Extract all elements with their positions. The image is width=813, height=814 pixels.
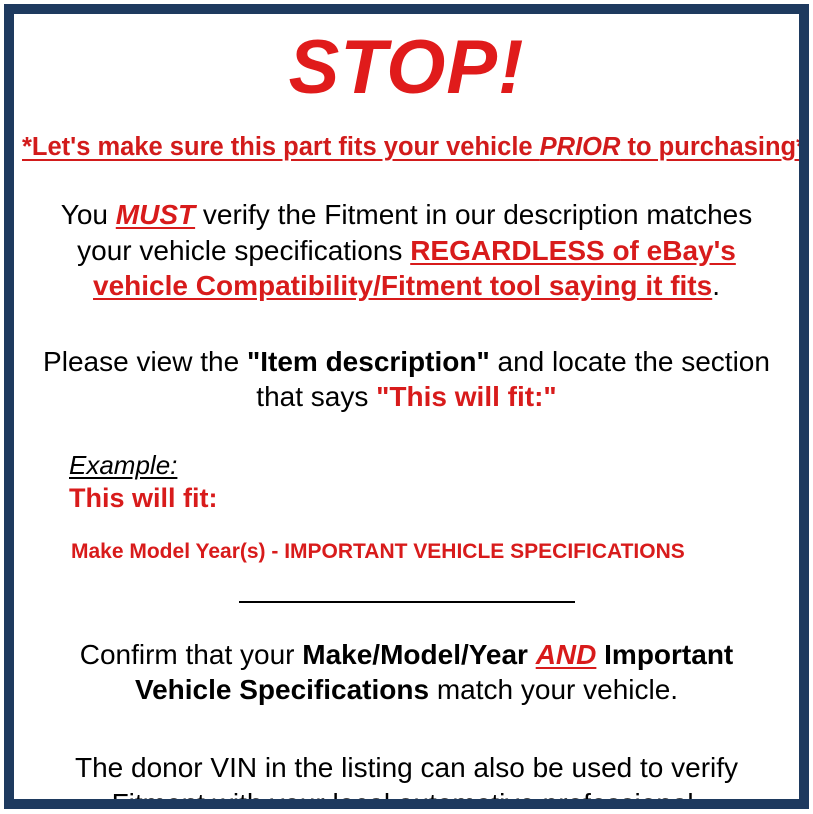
paragraph-must-verify: You MUST verify the Fitment in our descr… bbox=[22, 161, 791, 304]
must-text-3: . bbox=[712, 270, 720, 301]
divider-line bbox=[239, 601, 575, 603]
example-label: Example: bbox=[69, 451, 177, 481]
confirm-space-1 bbox=[528, 639, 536, 670]
example-this-will-fit: This will fit: bbox=[69, 481, 791, 514]
subheading-emphasis-prior: PRIOR bbox=[540, 133, 621, 161]
emphasis-and: AND bbox=[536, 639, 597, 670]
must-text-1: You bbox=[61, 199, 116, 230]
emphasis-must: MUST bbox=[116, 199, 195, 230]
emphasis-this-will-fit: "This will fit:" bbox=[376, 381, 557, 412]
fitment-notice-frame: STOP! *Let's make sure this part fits yo… bbox=[0, 0, 813, 814]
paragraph-view-description: Please view the "Item description" and l… bbox=[22, 304, 791, 415]
paragraph-confirm-match: Confirm that your Make/Model/Year AND Im… bbox=[22, 611, 791, 708]
confirm-text-2: match your vehicle. bbox=[429, 674, 678, 705]
subheading-text-after: to purchasing* bbox=[620, 133, 806, 161]
stop-heading: STOP! bbox=[22, 14, 791, 106]
subheading-verify-fitment: *Let's make sure this part fits your veh… bbox=[22, 106, 791, 161]
view-text-1: Please view the bbox=[43, 346, 247, 377]
emphasis-item-description: "Item description" bbox=[247, 346, 490, 377]
confirm-text-1: Confirm that your bbox=[80, 639, 303, 670]
notice-body: STOP! *Let's make sure this part fits yo… bbox=[14, 14, 799, 799]
divider bbox=[22, 564, 791, 611]
confirm-space-2 bbox=[596, 639, 604, 670]
paragraph-donor-vin: The donor VIN in the listing can also be… bbox=[22, 708, 791, 809]
example-spec-line: Make Model Year(s) - IMPORTANT VEHICLE S… bbox=[69, 514, 791, 564]
notice-border: STOP! *Let's make sure this part fits yo… bbox=[4, 4, 809, 809]
subheading-text-before: *Let's make sure this part fits your veh… bbox=[22, 133, 540, 161]
example-block: Example: This will fit: Make Model Year(… bbox=[22, 415, 791, 564]
emphasis-make-model-year: Make/Model/Year bbox=[302, 639, 528, 670]
